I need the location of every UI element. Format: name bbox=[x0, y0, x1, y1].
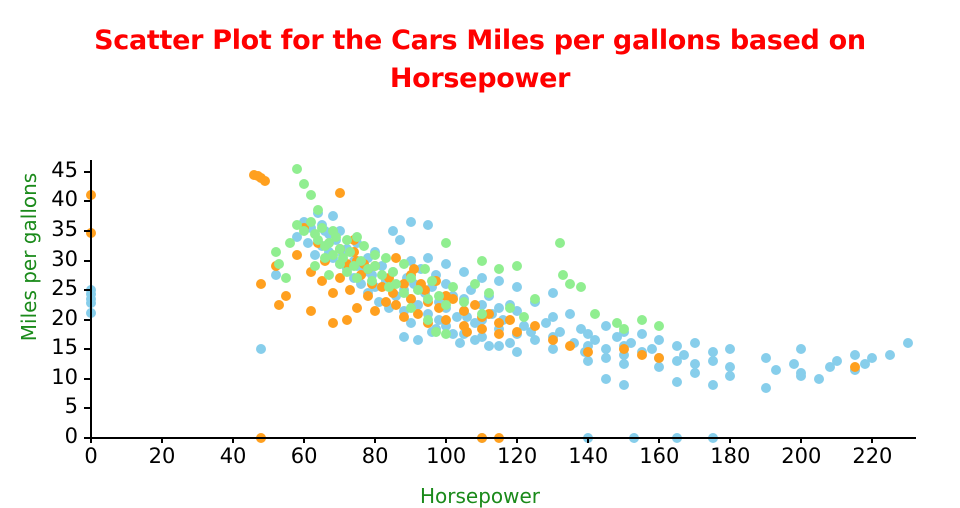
scatter-point bbox=[512, 282, 522, 292]
scatter-point bbox=[494, 329, 504, 339]
scatter-point bbox=[477, 256, 487, 266]
scatter-point bbox=[448, 282, 458, 292]
scatter-point bbox=[388, 226, 398, 236]
scatter-point bbox=[441, 315, 451, 325]
scatter-point bbox=[654, 353, 664, 363]
x-axis-tick bbox=[587, 437, 589, 443]
scatter-point bbox=[565, 341, 575, 351]
scatter-point bbox=[317, 223, 327, 233]
y-axis-tick bbox=[84, 289, 91, 291]
scatter-point bbox=[274, 259, 284, 269]
x-axis-tick bbox=[516, 437, 518, 443]
y-axis-tick-label: 5 bbox=[20, 394, 78, 418]
scatter-point bbox=[850, 362, 860, 372]
scatter-point bbox=[431, 327, 441, 337]
y-axis-tick bbox=[84, 437, 91, 439]
x-axis-tick-label: 220 bbox=[842, 444, 902, 468]
scatter-point bbox=[399, 332, 409, 342]
x-axis-tick-label: 40 bbox=[203, 444, 263, 468]
scatter-point bbox=[413, 335, 423, 345]
scatter-point bbox=[303, 238, 313, 248]
scatter-point bbox=[548, 344, 558, 354]
scatter-point bbox=[761, 353, 771, 363]
scatter-point bbox=[548, 288, 558, 298]
scatter-point bbox=[619, 359, 629, 369]
scatter-point bbox=[494, 276, 504, 286]
scatter-point bbox=[441, 259, 451, 269]
scatter-point bbox=[601, 321, 611, 331]
scatter-point bbox=[672, 377, 682, 387]
scatter-point bbox=[530, 335, 540, 345]
scatter-point bbox=[850, 350, 860, 360]
y-axis-tick bbox=[84, 378, 91, 380]
scatter-point bbox=[541, 318, 551, 328]
scatter-point bbox=[299, 226, 309, 236]
scatter-point bbox=[381, 253, 391, 263]
scatter-point bbox=[299, 179, 309, 189]
x-axis-tick-label: 140 bbox=[558, 444, 618, 468]
scatter-point bbox=[530, 294, 540, 304]
scatter-point bbox=[441, 238, 451, 248]
scatter-point bbox=[601, 374, 611, 384]
y-axis-tick-label: 0 bbox=[20, 424, 78, 448]
scatter-point bbox=[484, 288, 494, 298]
scatter-point bbox=[271, 270, 281, 280]
scatter-point bbox=[413, 285, 423, 295]
x-axis-tick-label: 200 bbox=[771, 444, 831, 468]
scatter-point bbox=[484, 341, 494, 351]
scatter-point bbox=[324, 270, 334, 280]
scatter-point bbox=[796, 344, 806, 354]
scatter-point bbox=[576, 282, 586, 292]
scatter-point bbox=[771, 365, 781, 375]
scatter-point bbox=[590, 335, 600, 345]
scatter-point bbox=[420, 264, 430, 274]
scatter-point bbox=[555, 238, 565, 248]
data-points-layer bbox=[91, 160, 915, 438]
scatter-point bbox=[565, 309, 575, 319]
scatter-point bbox=[530, 321, 540, 331]
scatter-point bbox=[256, 279, 266, 289]
y-axis-tick bbox=[84, 348, 91, 350]
scatter-point bbox=[388, 267, 398, 277]
scatter-point bbox=[331, 232, 341, 242]
scatter-point bbox=[565, 279, 575, 289]
x-axis-tick-label: 160 bbox=[629, 444, 689, 468]
scatter-point bbox=[619, 324, 629, 334]
y-axis-tick bbox=[84, 260, 91, 262]
scatter-point bbox=[494, 303, 504, 313]
scatter-point bbox=[399, 312, 409, 322]
scatter-point bbox=[654, 335, 664, 345]
scatter-point bbox=[406, 273, 416, 283]
x-axis-tick bbox=[658, 437, 660, 443]
scatter-point bbox=[399, 288, 409, 298]
scatter-point bbox=[654, 321, 664, 331]
scatter-point bbox=[470, 300, 480, 310]
x-axis-tick bbox=[161, 437, 163, 443]
scatter-point bbox=[494, 264, 504, 274]
scatter-point bbox=[459, 297, 469, 307]
scatter-point bbox=[335, 188, 345, 198]
scatter-point bbox=[708, 380, 718, 390]
scatter-point bbox=[619, 380, 629, 390]
y-axis-tick bbox=[84, 171, 91, 173]
x-axis-tick bbox=[800, 437, 802, 443]
scatter-point bbox=[260, 176, 270, 186]
scatter-point bbox=[494, 341, 504, 351]
scatter-point bbox=[796, 371, 806, 381]
scatter-point bbox=[370, 306, 380, 316]
scatter-point bbox=[423, 220, 433, 230]
scatter-point bbox=[345, 247, 355, 257]
scatter-point bbox=[345, 285, 355, 295]
scatter-point bbox=[477, 324, 487, 334]
scatter-point bbox=[690, 338, 700, 348]
x-axis-tick bbox=[374, 437, 376, 443]
scatter-point bbox=[725, 371, 735, 381]
x-axis-tick bbox=[729, 437, 731, 443]
y-axis-tick bbox=[84, 319, 91, 321]
y-axis-tick bbox=[84, 200, 91, 202]
scatter-point bbox=[367, 276, 377, 286]
scatter-point bbox=[512, 327, 522, 337]
scatter-point bbox=[342, 315, 352, 325]
scatter-plot-figure: Scatter Plot for the Cars Miles per gall… bbox=[0, 0, 960, 500]
scatter-point bbox=[590, 309, 600, 319]
scatter-point bbox=[555, 327, 565, 337]
scatter-point bbox=[328, 211, 338, 221]
scatter-point bbox=[637, 329, 647, 339]
scatter-point bbox=[292, 250, 302, 260]
scatter-point bbox=[690, 368, 700, 378]
y-axis-label: Miles per gallons bbox=[17, 147, 41, 367]
scatter-point bbox=[370, 250, 380, 260]
scatter-point bbox=[725, 344, 735, 354]
scatter-point bbox=[281, 273, 291, 283]
scatter-point bbox=[381, 297, 391, 307]
scatter-point bbox=[328, 288, 338, 298]
scatter-point bbox=[512, 347, 522, 357]
x-axis-tick-label: 120 bbox=[487, 444, 547, 468]
x-axis-tick-label: 180 bbox=[700, 444, 760, 468]
scatter-point bbox=[583, 347, 593, 357]
scatter-point bbox=[761, 383, 771, 393]
scatter-point bbox=[505, 315, 515, 325]
y-axis-tick bbox=[84, 407, 91, 409]
scatter-point bbox=[281, 291, 291, 301]
scatter-point bbox=[423, 253, 433, 263]
scatter-point bbox=[363, 291, 373, 301]
scatter-point bbox=[406, 217, 416, 227]
scatter-point bbox=[459, 267, 469, 277]
scatter-point bbox=[867, 353, 877, 363]
scatter-point bbox=[359, 241, 369, 251]
scatter-point bbox=[292, 164, 302, 174]
y-axis-tick-label: 10 bbox=[20, 365, 78, 389]
scatter-point bbox=[903, 338, 913, 348]
x-axis-tick bbox=[303, 437, 305, 443]
scatter-point bbox=[470, 279, 480, 289]
scatter-point bbox=[619, 344, 629, 354]
y-axis-tick bbox=[84, 230, 91, 232]
scatter-point bbox=[306, 306, 316, 316]
scatter-point bbox=[470, 335, 480, 345]
scatter-point bbox=[455, 338, 465, 348]
scatter-point bbox=[342, 235, 352, 245]
scatter-point bbox=[352, 303, 362, 313]
scatter-point bbox=[548, 335, 558, 345]
scatter-point bbox=[395, 235, 405, 245]
x-axis-tick bbox=[232, 437, 234, 443]
scatter-point bbox=[885, 350, 895, 360]
scatter-point bbox=[519, 312, 529, 322]
x-axis-tick-label: 80 bbox=[345, 444, 405, 468]
scatter-point bbox=[583, 356, 593, 366]
scatter-point bbox=[399, 259, 409, 269]
scatter-point bbox=[512, 261, 522, 271]
x-axis-label: Horsepower bbox=[0, 484, 960, 508]
x-axis-tick bbox=[871, 437, 873, 443]
x-axis-line bbox=[91, 437, 916, 439]
scatter-point bbox=[274, 300, 284, 310]
scatter-point bbox=[462, 327, 472, 337]
page-title: Scatter Plot for the Cars Miles per gall… bbox=[0, 22, 960, 98]
plot-area bbox=[91, 160, 915, 438]
x-axis-tick-label: 100 bbox=[416, 444, 476, 468]
scatter-point bbox=[505, 303, 515, 313]
scatter-point bbox=[679, 350, 689, 360]
scatter-point bbox=[406, 303, 416, 313]
scatter-point bbox=[310, 261, 320, 271]
scatter-point bbox=[306, 190, 316, 200]
scatter-point bbox=[654, 362, 664, 372]
scatter-point bbox=[271, 247, 281, 257]
scatter-point bbox=[601, 353, 611, 363]
scatter-point bbox=[708, 356, 718, 366]
scatter-point bbox=[637, 350, 647, 360]
x-axis-tick-label: 60 bbox=[274, 444, 334, 468]
scatter-point bbox=[328, 318, 338, 328]
scatter-point bbox=[477, 309, 487, 319]
scatter-point bbox=[637, 315, 647, 325]
x-axis-tick-label: 20 bbox=[132, 444, 192, 468]
scatter-point bbox=[285, 238, 295, 248]
x-axis-tick bbox=[445, 437, 447, 443]
scatter-point bbox=[256, 344, 266, 354]
scatter-point bbox=[832, 356, 842, 366]
scatter-point bbox=[814, 374, 824, 384]
scatter-point bbox=[459, 306, 469, 316]
scatter-point bbox=[310, 250, 320, 260]
